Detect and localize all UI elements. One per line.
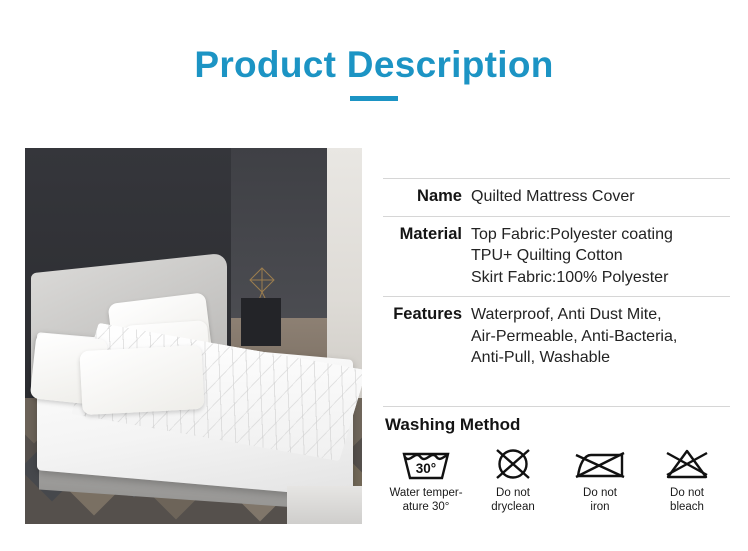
wash-caption-line: Water temper- [389, 487, 462, 501]
do-not-dryclean-icon [491, 445, 535, 483]
spec-value-line: Waterproof, Anti Dust Mite, [471, 304, 730, 326]
spec-row-material: Material Top Fabric:Polyester coating TP… [383, 216, 730, 297]
product-photo [25, 148, 362, 524]
wash-caption-line: iron [583, 501, 617, 515]
photo-side-table [241, 298, 281, 346]
spec-table: Name Quilted Mattress Cover Material Top… [383, 178, 730, 377]
wash-caption-line: Do not [583, 487, 617, 501]
wash-caption: Do not dryclean [491, 487, 534, 514]
page-title: Product Description [0, 46, 748, 85]
spec-value-line: Air-Permeable, Anti-Bacteria, [471, 326, 730, 348]
washing-method-block: Washing Method 30° Water temper- ature 3… [383, 406, 730, 514]
wash-caption-line: bleach [670, 501, 704, 515]
wash-item-water-temperature: 30° Water temper- ature 30° [383, 445, 469, 514]
wash-caption: Water temper- ature 30° [389, 487, 462, 514]
spec-value-line: Anti-Pull, Washable [471, 347, 730, 369]
spec-value-line: Top Fabric:Polyester coating [471, 224, 730, 246]
wash-caption-line: Do not [670, 487, 704, 501]
spec-value-line: Skirt Fabric:100% Polyester [471, 267, 730, 289]
do-not-iron-icon [572, 445, 628, 483]
spec-value-name: Quilted Mattress Cover [471, 186, 730, 208]
spec-row-features: Features Waterproof, Anti Dust Mite, Air… [383, 296, 730, 377]
spec-label-name: Name [383, 186, 471, 207]
spec-label-features: Features [383, 304, 471, 325]
wash-item-do-not-bleach: Do not bleach [644, 445, 730, 514]
wash-tub-30-icon: 30° [398, 445, 454, 483]
washing-icon-row: 30° Water temper- ature 30° Do not [383, 445, 730, 514]
wash-item-do-not-iron: Do not iron [557, 445, 643, 514]
wash-caption: Do not bleach [670, 487, 704, 514]
product-description-page: Product Description [0, 0, 748, 551]
title-block: Product Description [0, 46, 748, 101]
wash-caption-line: ature 30° [389, 501, 462, 515]
photo-wire-decor-icon [243, 266, 281, 302]
spec-row-name: Name Quilted Mattress Cover [383, 178, 730, 216]
washing-method-title: Washing Method [385, 415, 730, 435]
spec-value-features: Waterproof, Anti Dust Mite, Air-Permeabl… [471, 304, 730, 369]
photo-pillow [79, 345, 204, 415]
wash-item-do-not-dryclean: Do not dryclean [470, 445, 556, 514]
spec-label-material: Material [383, 224, 471, 245]
spec-value-line: TPU+ Quilting Cotton [471, 245, 730, 267]
spec-value-line: Quilted Mattress Cover [471, 186, 730, 208]
title-underline [350, 96, 398, 101]
photo-bench [287, 486, 362, 524]
wash-temp-value: 30° [416, 461, 436, 476]
wash-caption: Do not iron [583, 487, 617, 514]
do-not-bleach-icon [662, 445, 712, 483]
wash-caption-line: Do not [491, 487, 534, 501]
wash-caption-line: dryclean [491, 501, 534, 515]
spec-value-material: Top Fabric:Polyester coating TPU+ Quilti… [471, 224, 730, 289]
